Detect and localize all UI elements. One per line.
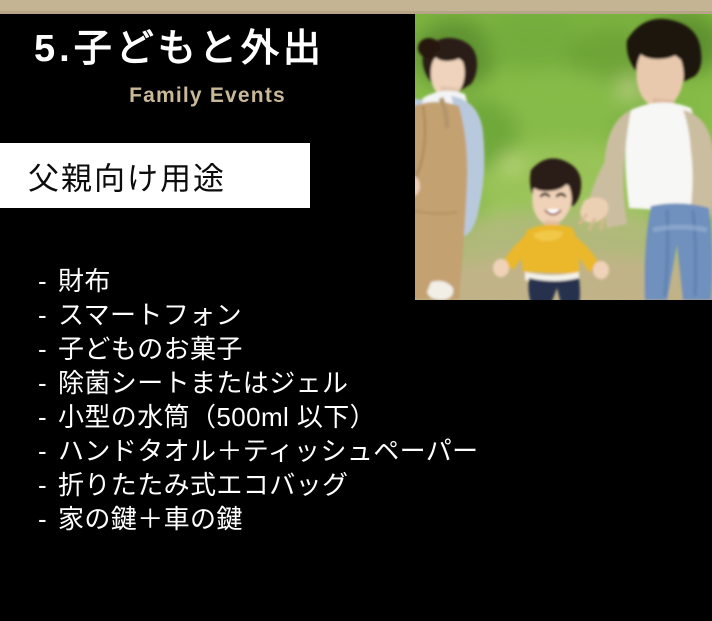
family-photo [415, 14, 712, 300]
list-item-label: 家の鍵＋車の鍵 [58, 502, 243, 536]
bullet-dash-icon: - [38, 400, 58, 434]
list-item-label: 財布 [58, 264, 111, 298]
list-item-label: スマートフォン [58, 298, 242, 332]
list-item: - ハンドタオル＋ティッシュペーパー [38, 434, 479, 468]
list-item-label: 小型の水筒（500ml 以下） [58, 400, 376, 434]
bullet-dash-icon: - [38, 434, 58, 468]
slide-title: 5.子どもと外出 [0, 26, 415, 72]
bullet-dash-icon: - [38, 298, 58, 332]
bullet-dash-icon: - [38, 366, 58, 400]
list-item: - スマートフォン [38, 298, 479, 332]
list-item-label: ハンドタオル＋ティッシュペーパー [58, 434, 479, 468]
list-item-label: 子どものお菓子 [58, 332, 243, 366]
list-item: - 財布 [38, 264, 479, 298]
bullet-list: - 財布 - スマートフォン - 子どものお菓子 - 除菌シートまたはジェル -… [38, 264, 479, 536]
list-item: - 子どものお菓子 [38, 332, 479, 366]
title-block: 5.子どもと外出 Family Events [0, 26, 415, 108]
list-item: - 除菌シートまたはジェル [38, 366, 479, 400]
list-item-label: 除菌シートまたはジェル [58, 366, 348, 400]
list-item-label: 折りたたみ式エコバッグ [58, 468, 348, 502]
list-item: - 家の鍵＋車の鍵 [38, 502, 479, 536]
list-item: - 折りたたみ式エコバッグ [38, 468, 479, 502]
section-label-text: 父親向け用途 [28, 153, 226, 198]
section-label-box: 父親向け用途 [0, 143, 310, 208]
bullet-dash-icon: - [38, 468, 58, 502]
bullet-dash-icon: - [38, 332, 58, 366]
slide: 5.子どもと外出 Family Events 父親向け用途 - 財布 - スマー… [0, 0, 712, 621]
list-item: - 小型の水筒（500ml 以下） [38, 400, 479, 434]
bullet-dash-icon: - [38, 502, 58, 536]
slide-subtitle: Family Events [0, 72, 415, 108]
bullet-dash-icon: - [38, 264, 58, 298]
